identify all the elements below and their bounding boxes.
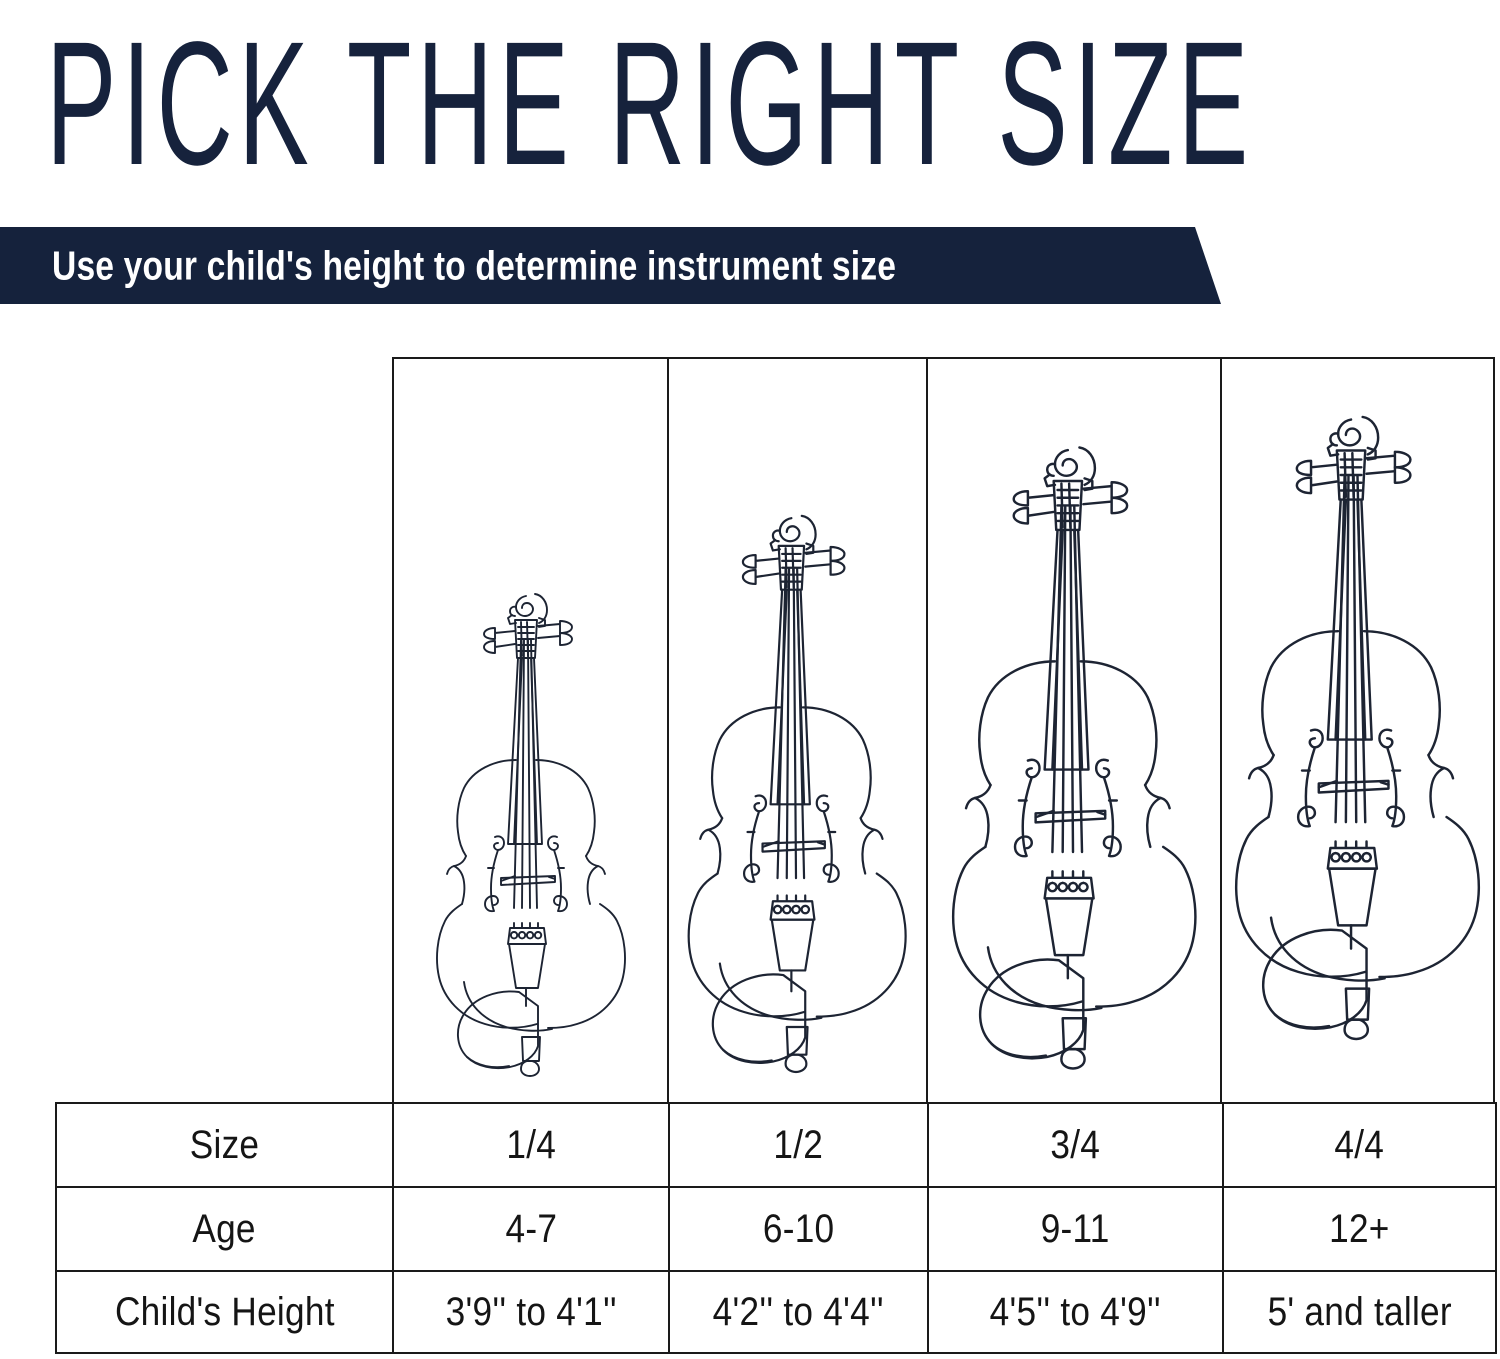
- cell-text: 9-11: [1041, 1207, 1110, 1252]
- cell-height-full: 5' and taller: [1223, 1271, 1496, 1353]
- violin-cell-full: [1222, 359, 1493, 1102]
- subtitle-text: Use your child's height to determine ins…: [52, 242, 896, 289]
- violin-outline-icon: [939, 432, 1210, 1102]
- cell-text: 12+: [1329, 1207, 1390, 1252]
- violin-outline-icon: [426, 582, 636, 1102]
- cell-text: Age: [193, 1207, 256, 1252]
- violin-cell-quarter: [394, 359, 669, 1102]
- cell-text: 4/4: [1335, 1123, 1385, 1168]
- cell-text: 5' and taller: [1267, 1290, 1451, 1335]
- cell-age-full: 12+: [1223, 1187, 1496, 1271]
- cell-size-half: 1/2: [669, 1103, 928, 1187]
- cell-size-three-quarter: 3/4: [928, 1103, 1223, 1187]
- cell-text: 1/4: [506, 1123, 556, 1168]
- cell-age-three-quarter: 9-11: [928, 1187, 1223, 1271]
- cell-text: Size: [190, 1123, 260, 1168]
- violin-cell-three-quarter: [928, 359, 1222, 1102]
- violin-outline-icon: [676, 502, 918, 1102]
- row-label-size: Size: [56, 1103, 393, 1187]
- cell-text: 6-10: [763, 1207, 835, 1252]
- row-label-age: Age: [56, 1187, 393, 1271]
- table-row: Size 1/4 1/2 3/4 4/4: [56, 1103, 1496, 1187]
- cell-text: Child's Height: [115, 1290, 335, 1335]
- page-title: PICK THE RIGHT SIZE: [46, 4, 646, 204]
- row-label-height: Child's Height: [56, 1271, 393, 1353]
- cell-text: 4-7: [505, 1207, 557, 1252]
- table-row: Age 4-7 6-10 9-11 12+: [56, 1187, 1496, 1271]
- cell-text: 4'5'' to 4'9'': [990, 1290, 1161, 1335]
- subtitle-banner: Use your child's height to determine ins…: [0, 227, 1232, 304]
- cell-size-full: 4/4: [1223, 1103, 1496, 1187]
- cell-height-quarter: 3'9'' to 4'1'': [393, 1271, 669, 1353]
- violin-illustration-band: [392, 357, 1495, 1102]
- cell-height-three-quarter: 4'5'' to 4'9'': [928, 1271, 1223, 1353]
- cell-height-half: 4'2'' to 4'4'': [669, 1271, 928, 1353]
- cell-text: 4'2'' to 4'4'': [713, 1290, 884, 1335]
- size-chart-table: Size 1/4 1/2 3/4 4/4 Age 4-7 6-10 9-11 1…: [55, 1102, 1497, 1354]
- cell-text: 3/4: [1051, 1123, 1101, 1168]
- cell-age-half: 6-10: [669, 1187, 928, 1271]
- violin-outline-icon: [1222, 372, 1493, 1102]
- cell-age-quarter: 4-7: [393, 1187, 669, 1271]
- cell-text: 1/2: [774, 1123, 824, 1168]
- table-row: Child's Height 3'9'' to 4'1'' 4'2'' to 4…: [56, 1271, 1496, 1353]
- cell-text: 3'9'' to 4'1'': [445, 1290, 616, 1335]
- cell-size-quarter: 1/4: [393, 1103, 669, 1187]
- violin-cell-half: [669, 359, 927, 1102]
- header: PICK THE RIGHT SIZE Use your child's hei…: [0, 0, 1500, 310]
